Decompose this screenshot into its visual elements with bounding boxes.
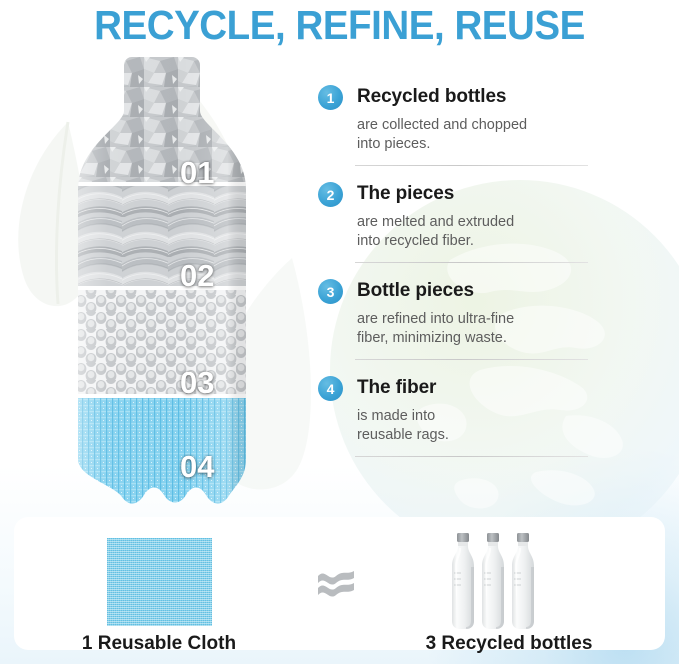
step-item-2: 2 The pieces are melted and extruded int…	[318, 181, 608, 263]
three-bottles-icon	[450, 531, 562, 631]
approximately-equal-icon	[314, 565, 358, 599]
step-badge-1: 1	[318, 85, 343, 110]
step-body-1: are collected and chopped into pieces.	[357, 116, 608, 154]
step-header-1: 1 Recycled bottles	[318, 84, 608, 110]
step-badge-3: 3	[318, 279, 343, 304]
step-header-3: 3 Bottle pieces	[318, 278, 608, 304]
comparison-left-label: 1 Reusable Cloth	[14, 633, 304, 655]
bottle-illustration: 01 02 03 04	[76, 57, 248, 504]
step-body-4: is made into reusable rags.	[357, 407, 608, 445]
step-header-2: 2 The pieces	[318, 181, 608, 207]
infographic-root: RECYCLE, REFINE, REUSE	[0, 0, 679, 664]
comparison-right-label: 3 Recycled bottles	[364, 633, 654, 655]
step-divider-4	[355, 456, 588, 457]
step-title-2: The pieces	[357, 181, 454, 206]
step-item-3: 3 Bottle pieces are refined into ultra-f…	[318, 278, 608, 360]
step-divider-2	[355, 262, 588, 263]
step-title-3: Bottle pieces	[357, 278, 474, 303]
step-badge-2: 2	[318, 182, 343, 207]
cloth-swatch	[107, 538, 212, 626]
step-badge-4: 4	[318, 376, 343, 401]
step-item-1: 1 Recycled bottles are collected and cho…	[318, 84, 608, 166]
page-title: RECYCLE, REFINE, REUSE	[20, 2, 658, 49]
step-divider-1	[355, 165, 588, 166]
step-title-1: Recycled bottles	[357, 84, 506, 109]
step-divider-3	[355, 359, 588, 360]
step-title-4: The fiber	[357, 375, 436, 400]
step-body-2: are melted and extruded into recycled fi…	[357, 213, 608, 251]
bottle-svg	[76, 57, 248, 504]
step-header-4: 4 The fiber	[318, 375, 608, 401]
steps-list: 1 Recycled bottles are collected and cho…	[318, 84, 608, 457]
step-item-4: 4 The fiber is made into reusable rags.	[318, 375, 608, 457]
comparison-card: 1 Reusable Cloth 3 Recycled bottles	[14, 517, 665, 650]
step-body-3: are refined into ultra-fine fiber, minim…	[357, 310, 608, 348]
